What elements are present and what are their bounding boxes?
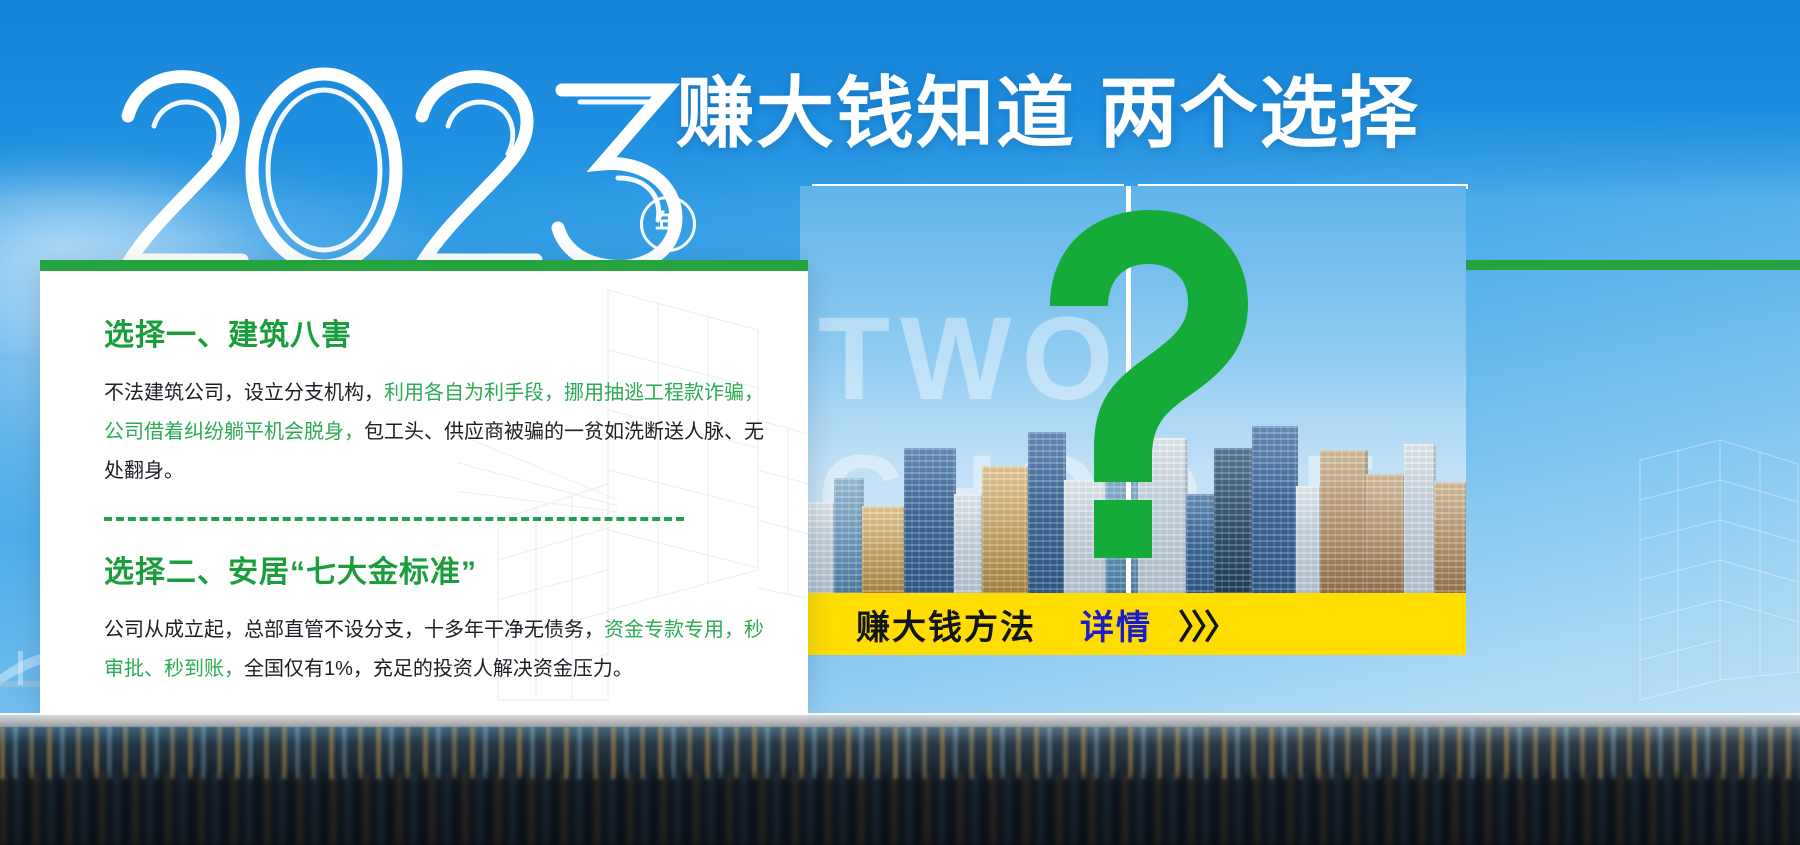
right-accent-bar: [1466, 260, 1800, 270]
panel-vertical-divider: [1126, 186, 1131, 598]
section-body: 不法建筑公司，设立分支机构，利用各自为利手段，挪用抽逃工程款诈骗，公司借着纠纷躺…: [104, 374, 782, 491]
section-divider: [104, 517, 684, 521]
body-part: 不法建筑公司，设立分支机构，: [104, 382, 384, 404]
content-card: 选择一、建筑八害 不法建筑公司，设立分支机构，利用各自为利手段，挪用抽逃工程款诈…: [40, 260, 808, 715]
body-part: 公司从成立起，总部直管不设分支，十多年干净无债务，: [104, 619, 604, 641]
right-image-panel: TWO CHOOSE: [800, 186, 1466, 598]
section-title: 选择一、建筑八害: [104, 310, 782, 354]
card-section: 选择二、安居“七大金标准” 公司从成立起，总部直管不设分支，十多年干净无债务，资…: [104, 547, 782, 689]
card-top-accent: [40, 260, 808, 271]
section-body: 公司从成立起，总部直管不设分支，十多年干净无债务，资金专款专用，秒审批、秒到账，…: [104, 611, 782, 689]
cta-details-link[interactable]: 详情: [1080, 600, 1152, 649]
water-reflection-strip: [0, 715, 1800, 845]
card-section: 选择一、建筑八害 不法建筑公司，设立分支机构，利用各自为利手段，挪用抽逃工程款诈…: [104, 310, 782, 491]
body-part: 全国仅有1%，充足的投资人解决资金压力。: [244, 658, 633, 680]
page-title: 赚大钱知道 两个选择: [676, 74, 1420, 152]
chevron-right-icon[interactable]: 〉〉〉: [1178, 600, 1234, 649]
year-suffix-badge: 年: [640, 196, 696, 252]
right-blueprint-linework: [1630, 420, 1800, 720]
section-title: 选择二、安居“七大金标准”: [104, 547, 782, 591]
poster-canvas: 年 赚大钱知道 两个选择 TWO CHOOSE: [0, 0, 1800, 845]
city-skyline: [800, 426, 1466, 598]
ghost-text-two: TWO: [818, 298, 1123, 422]
cta-main-label: 赚大钱方法: [856, 600, 1036, 649]
cta-bar[interactable]: 赚大钱方法 详情 〉〉〉: [800, 593, 1466, 655]
